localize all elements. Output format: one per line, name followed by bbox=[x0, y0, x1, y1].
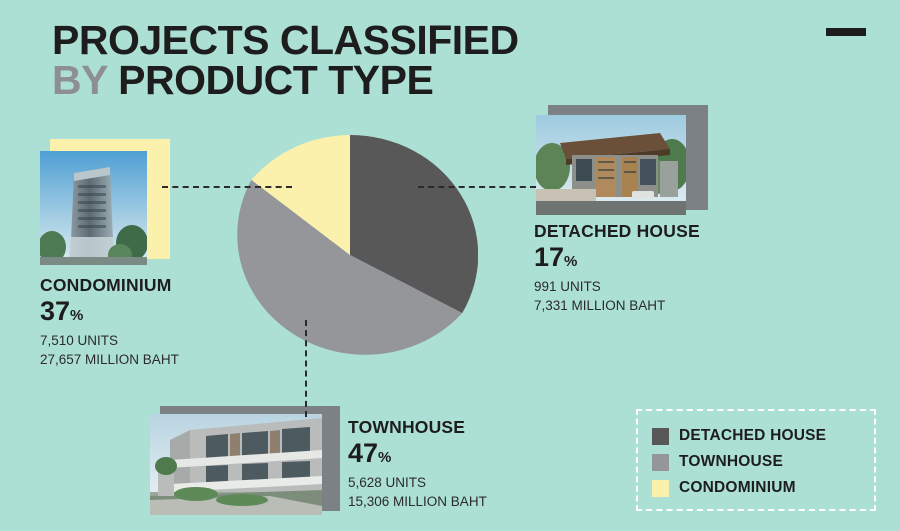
legend-label-townhouse: TOWNHOUSE bbox=[679, 453, 783, 471]
legend-swatch-condominium bbox=[652, 480, 669, 497]
callout-title-detached-house: DETACHED HOUSE bbox=[534, 221, 700, 242]
connector-line-condominium bbox=[162, 186, 292, 188]
callout-stats-detached-house: 991 UNITS 7,331 MILLION BAHT bbox=[534, 278, 700, 314]
percent-value-condominium: 37 bbox=[40, 296, 70, 326]
legend-item-condominium: CONDOMINIUM bbox=[652, 475, 826, 501]
callout-value-condominium: 27,657 MILLION BAHT bbox=[40, 351, 179, 369]
callout-condominium: CONDOMINIUM 37% 7,510 UNITS 27,657 MILLI… bbox=[40, 275, 179, 369]
title-by-accent: BY bbox=[52, 57, 118, 103]
percent-value-detached-house: 17 bbox=[534, 242, 564, 272]
photo-image-detached-house bbox=[536, 115, 686, 215]
legend-item-detached-house: DETACHED HOUSE bbox=[652, 423, 826, 449]
callout-percent-detached-house: 17% bbox=[534, 243, 700, 271]
percent-value-townhouse: 47 bbox=[348, 438, 378, 468]
title-line-2: BY PRODUCT TYPE bbox=[52, 60, 519, 100]
callout-value-townhouse: 15,306 MILLION BAHT bbox=[348, 493, 487, 511]
callout-percent-townhouse: 47% bbox=[348, 439, 487, 467]
callout-stats-condominium: 7,510 UNITS 27,657 MILLION BAHT bbox=[40, 332, 179, 368]
callout-percent-condominium: 37% bbox=[40, 297, 179, 325]
pie-chart bbox=[222, 135, 478, 375]
photo-image-condominium bbox=[40, 151, 147, 265]
page-title: PROJECTS CLASSIFIED BY PRODUCT TYPE bbox=[52, 20, 519, 100]
legend-swatch-townhouse bbox=[652, 454, 669, 471]
legend-label-condominium: CONDOMINIUM bbox=[679, 479, 796, 497]
legend-label-detached-house: DETACHED HOUSE bbox=[679, 427, 826, 445]
legend-item-townhouse: TOWNHOUSE bbox=[652, 449, 826, 475]
detached-house-photo bbox=[536, 110, 696, 215]
title-line-1: PROJECTS CLASSIFIED bbox=[52, 20, 519, 60]
callout-title-townhouse: TOWNHOUSE bbox=[348, 417, 487, 438]
callout-units-detached-house: 991 UNITS bbox=[534, 278, 700, 296]
legend-list: DETACHED HOUSE TOWNHOUSE CONDOMINIUM bbox=[652, 423, 826, 501]
callout-detached-house: DETACHED HOUSE 17% 991 UNITS 7,331 MILLI… bbox=[534, 221, 700, 315]
connector-line-detached-house bbox=[418, 186, 536, 188]
infographic-canvas: PROJECTS CLASSIFIED BY PRODUCT TYPE bbox=[0, 0, 900, 531]
decorative-dash-icon bbox=[826, 28, 866, 36]
percent-sign-townhouse: % bbox=[378, 449, 391, 466]
callout-units-condominium: 7,510 UNITS bbox=[40, 332, 179, 350]
title-line-2-rest: PRODUCT TYPE bbox=[118, 57, 433, 103]
connector-line-townhouse bbox=[305, 320, 307, 417]
percent-sign-condominium: % bbox=[70, 307, 83, 324]
condominium-photo bbox=[40, 145, 160, 265]
callout-value-detached-house: 7,331 MILLION BAHT bbox=[534, 297, 700, 315]
townhouse-photo bbox=[150, 410, 330, 515]
callout-stats-townhouse: 5,628 UNITS 15,306 MILLION BAHT bbox=[348, 474, 487, 510]
photo-image-townhouse bbox=[150, 414, 322, 515]
legend-swatch-detached-house bbox=[652, 428, 669, 445]
callout-townhouse: TOWNHOUSE 47% 5,628 UNITS 15,306 MILLION… bbox=[348, 417, 487, 511]
callout-title-condominium: CONDOMINIUM bbox=[40, 275, 179, 296]
callout-units-townhouse: 5,628 UNITS bbox=[348, 474, 487, 492]
chart-legend: DETACHED HOUSE TOWNHOUSE CONDOMINIUM bbox=[636, 409, 876, 511]
percent-sign-detached-house: % bbox=[564, 253, 577, 270]
